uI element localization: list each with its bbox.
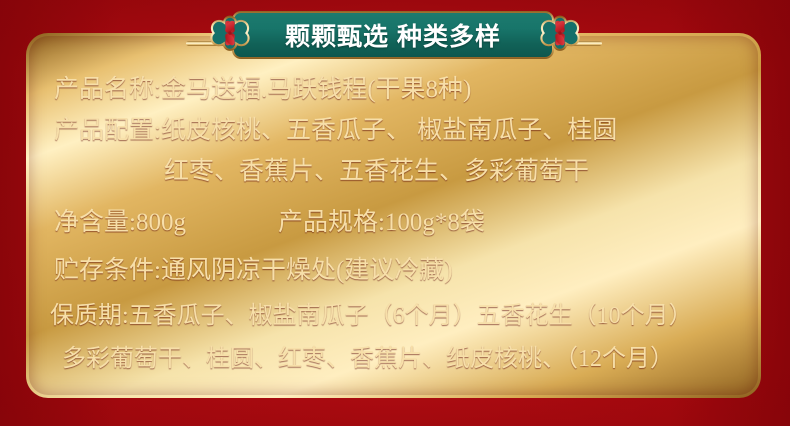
spec-list: 产品名称:金马送福.马跃钱程(干果8种) 产品配置:纸皮核桃、五香瓜子、 椒盐南… (26, 33, 761, 398)
spec-shelf-life-line-2: 多彩葡萄干、桂圆、红枣、香蕉片、纸皮核桃、（12个月） (26, 344, 790, 374)
spec-net-weight: 净含量:800g (54, 209, 186, 236)
spec-ingredients-line-2: 红枣、香蕉片、五香花生、多彩葡萄干 (26, 157, 790, 187)
spec-shelf-life-line-1: 保质期:五香瓜子、椒盐南瓜子（6个月）五香花生（10个月） (26, 301, 785, 331)
spec-specification: 产品规格:100g*8袋 (278, 209, 485, 236)
spec-storage: 贮存条件:通风阴凉干燥处(建议冷藏) (26, 256, 789, 286)
spec-ingredients-line-1: 产品配置:纸皮核桃、五香瓜子、 椒盐南瓜子、桂圆 (26, 116, 789, 146)
spec-product-name: 产品名称:金马送福.马跃钱程(干果8种) (26, 75, 789, 105)
spec-weight-row: 净含量:800g产品规格:100g*8袋 (26, 208, 789, 238)
product-spec-banner: 颗颗甄选 种类多样 (0, 0, 790, 426)
